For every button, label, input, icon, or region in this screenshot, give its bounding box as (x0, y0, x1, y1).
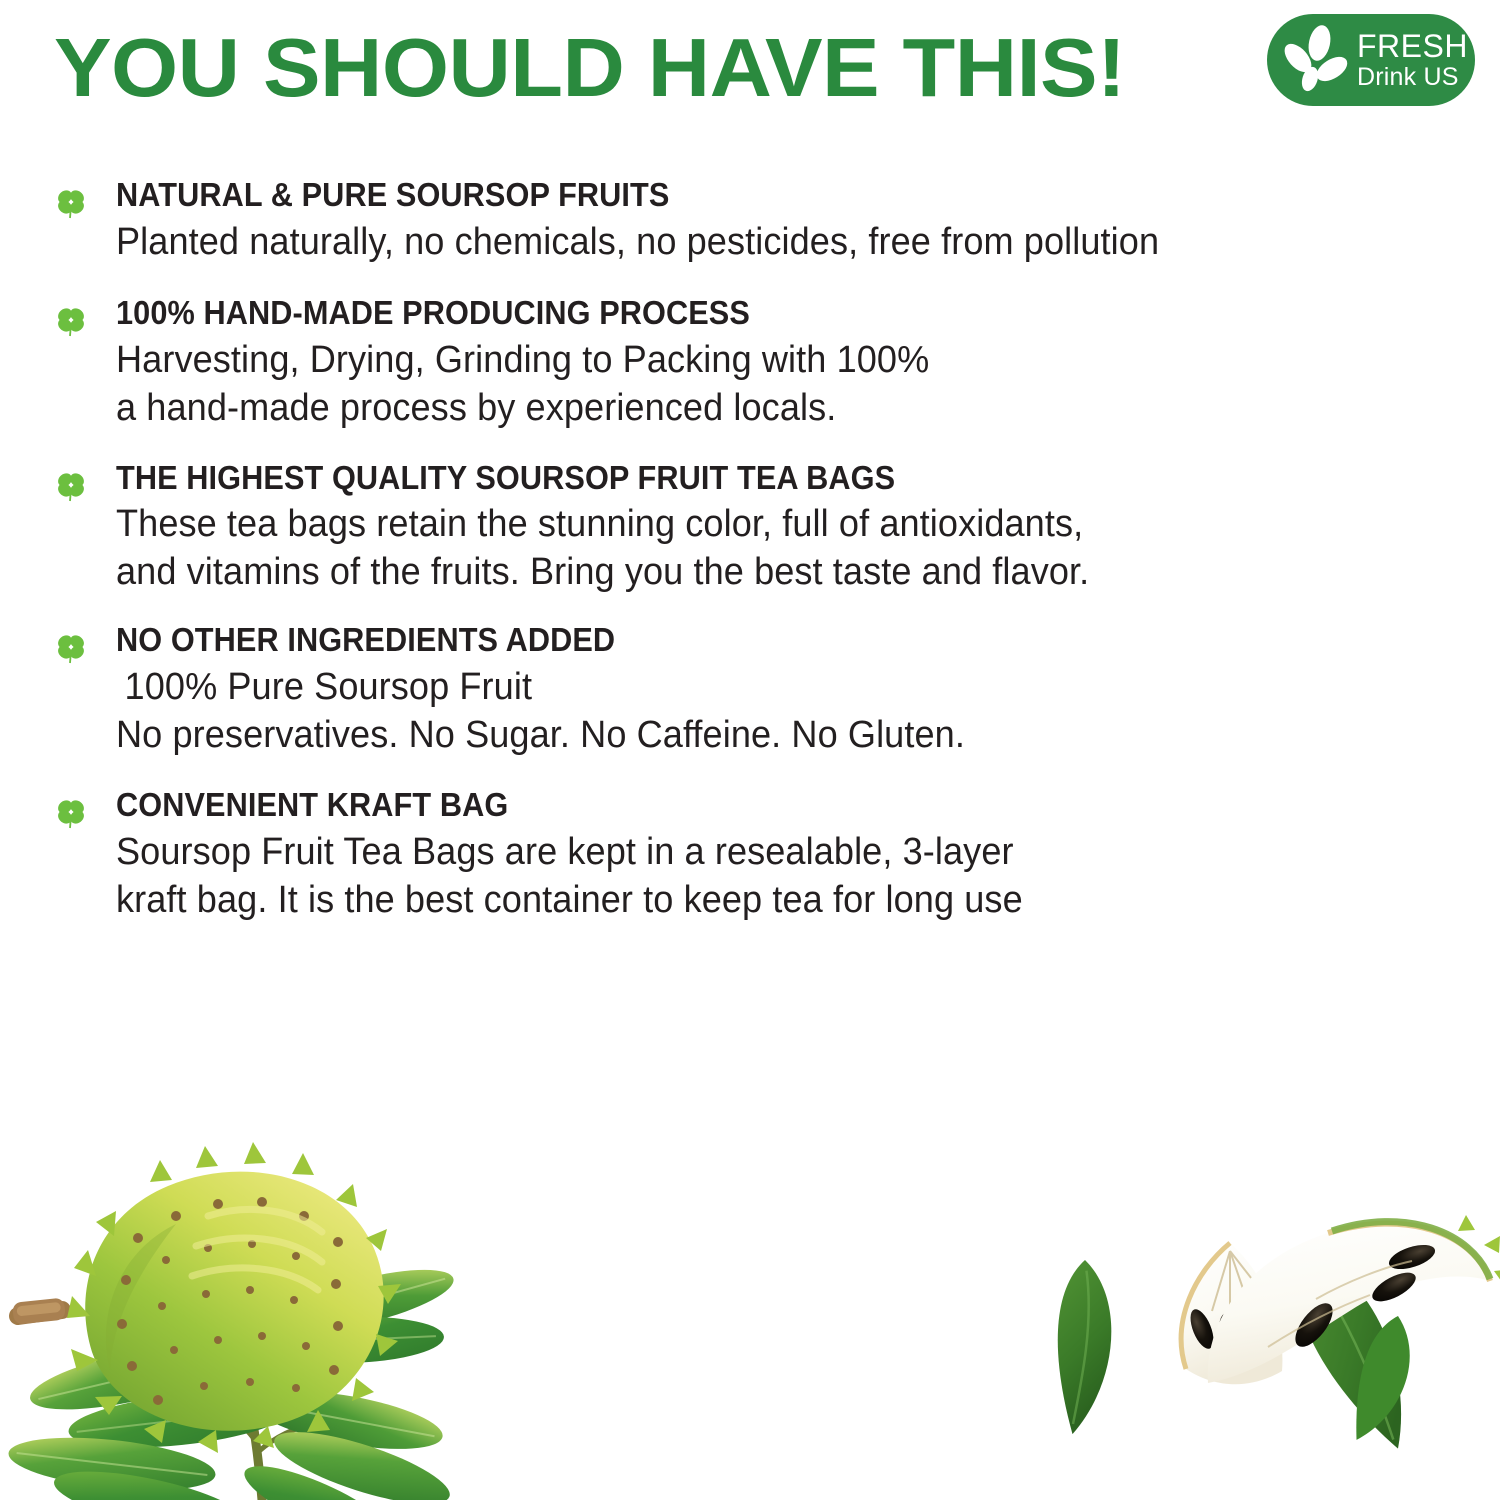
feature-item: CONVENIENT KRAFT BAG Soursop Fruit Tea B… (46, 786, 1466, 925)
page-title: YOU SHOULD HAVE THIS! (54, 26, 1125, 109)
feature-line: Soursop Fruit Tea Bags are kept in a res… (116, 829, 1399, 877)
feature-heading: NO OTHER INGREDIENTS ADDED (116, 621, 1372, 660)
feature-heading: 100% HAND-MADE PRODUCING PROCESS (116, 294, 1372, 333)
soursop-fruit-image (12, 1142, 401, 1453)
clover-icon (54, 469, 88, 503)
feature-item: THE HIGHEST QUALITY SOURSOP FRUIT TEA BA… (46, 459, 1466, 598)
feature-item: 100% HAND-MADE PRODUCING PROCESS Harvest… (46, 294, 1466, 433)
feature-line: kraft bag. It is the best container to k… (116, 877, 1399, 925)
soursop-slice-image (1181, 1215, 1500, 1384)
feature-line: a hand-made process by experienced local… (116, 385, 1399, 433)
feature-heading: NATURAL & PURE SOURSOP FRUITS (116, 176, 1372, 215)
bottom-artwork (0, 1120, 1500, 1500)
feature-line: These tea bags retain the stunning color… (116, 501, 1399, 549)
clover-icon (54, 796, 88, 830)
clover-icon (54, 186, 88, 220)
feature-heading: THE HIGHEST QUALITY SOURSOP FRUIT TEA BA… (116, 459, 1372, 498)
soursop-backdrop-leaves (1031, 1235, 1434, 1464)
brand-name-secondary: Drink US (1357, 65, 1468, 90)
brand-name-primary: FRESH (1357, 30, 1468, 62)
brand-logo[interactable]: FRESH Drink US (1267, 14, 1475, 106)
feature-line: and vitamins of the fruits. Bring you th… (116, 549, 1399, 597)
feature-line: Harvesting, Drying, Grinding to Packing … (116, 337, 1399, 385)
clover-icon (54, 631, 88, 665)
feature-item: NATURAL & PURE SOURSOP FRUITS Planted na… (46, 176, 1466, 267)
feature-line: No preservatives. No Sugar. No Caffeine.… (116, 712, 1399, 760)
feature-line: Planted naturally, no chemicals, no pest… (116, 219, 1399, 267)
feature-item: NO OTHER INGREDIENTS ADDED 100% Pure Sou… (46, 621, 1466, 760)
leaf-cluster-icon (1277, 21, 1355, 99)
feature-list: NATURAL & PURE SOURSOP FRUITS Planted na… (46, 176, 1466, 952)
feature-heading: CONVENIENT KRAFT BAG (116, 786, 1372, 825)
soursop-leaf-branch-image (6, 1221, 459, 1500)
clover-icon (54, 304, 88, 338)
feature-line: 100% Pure Soursop Fruit (116, 664, 1399, 712)
